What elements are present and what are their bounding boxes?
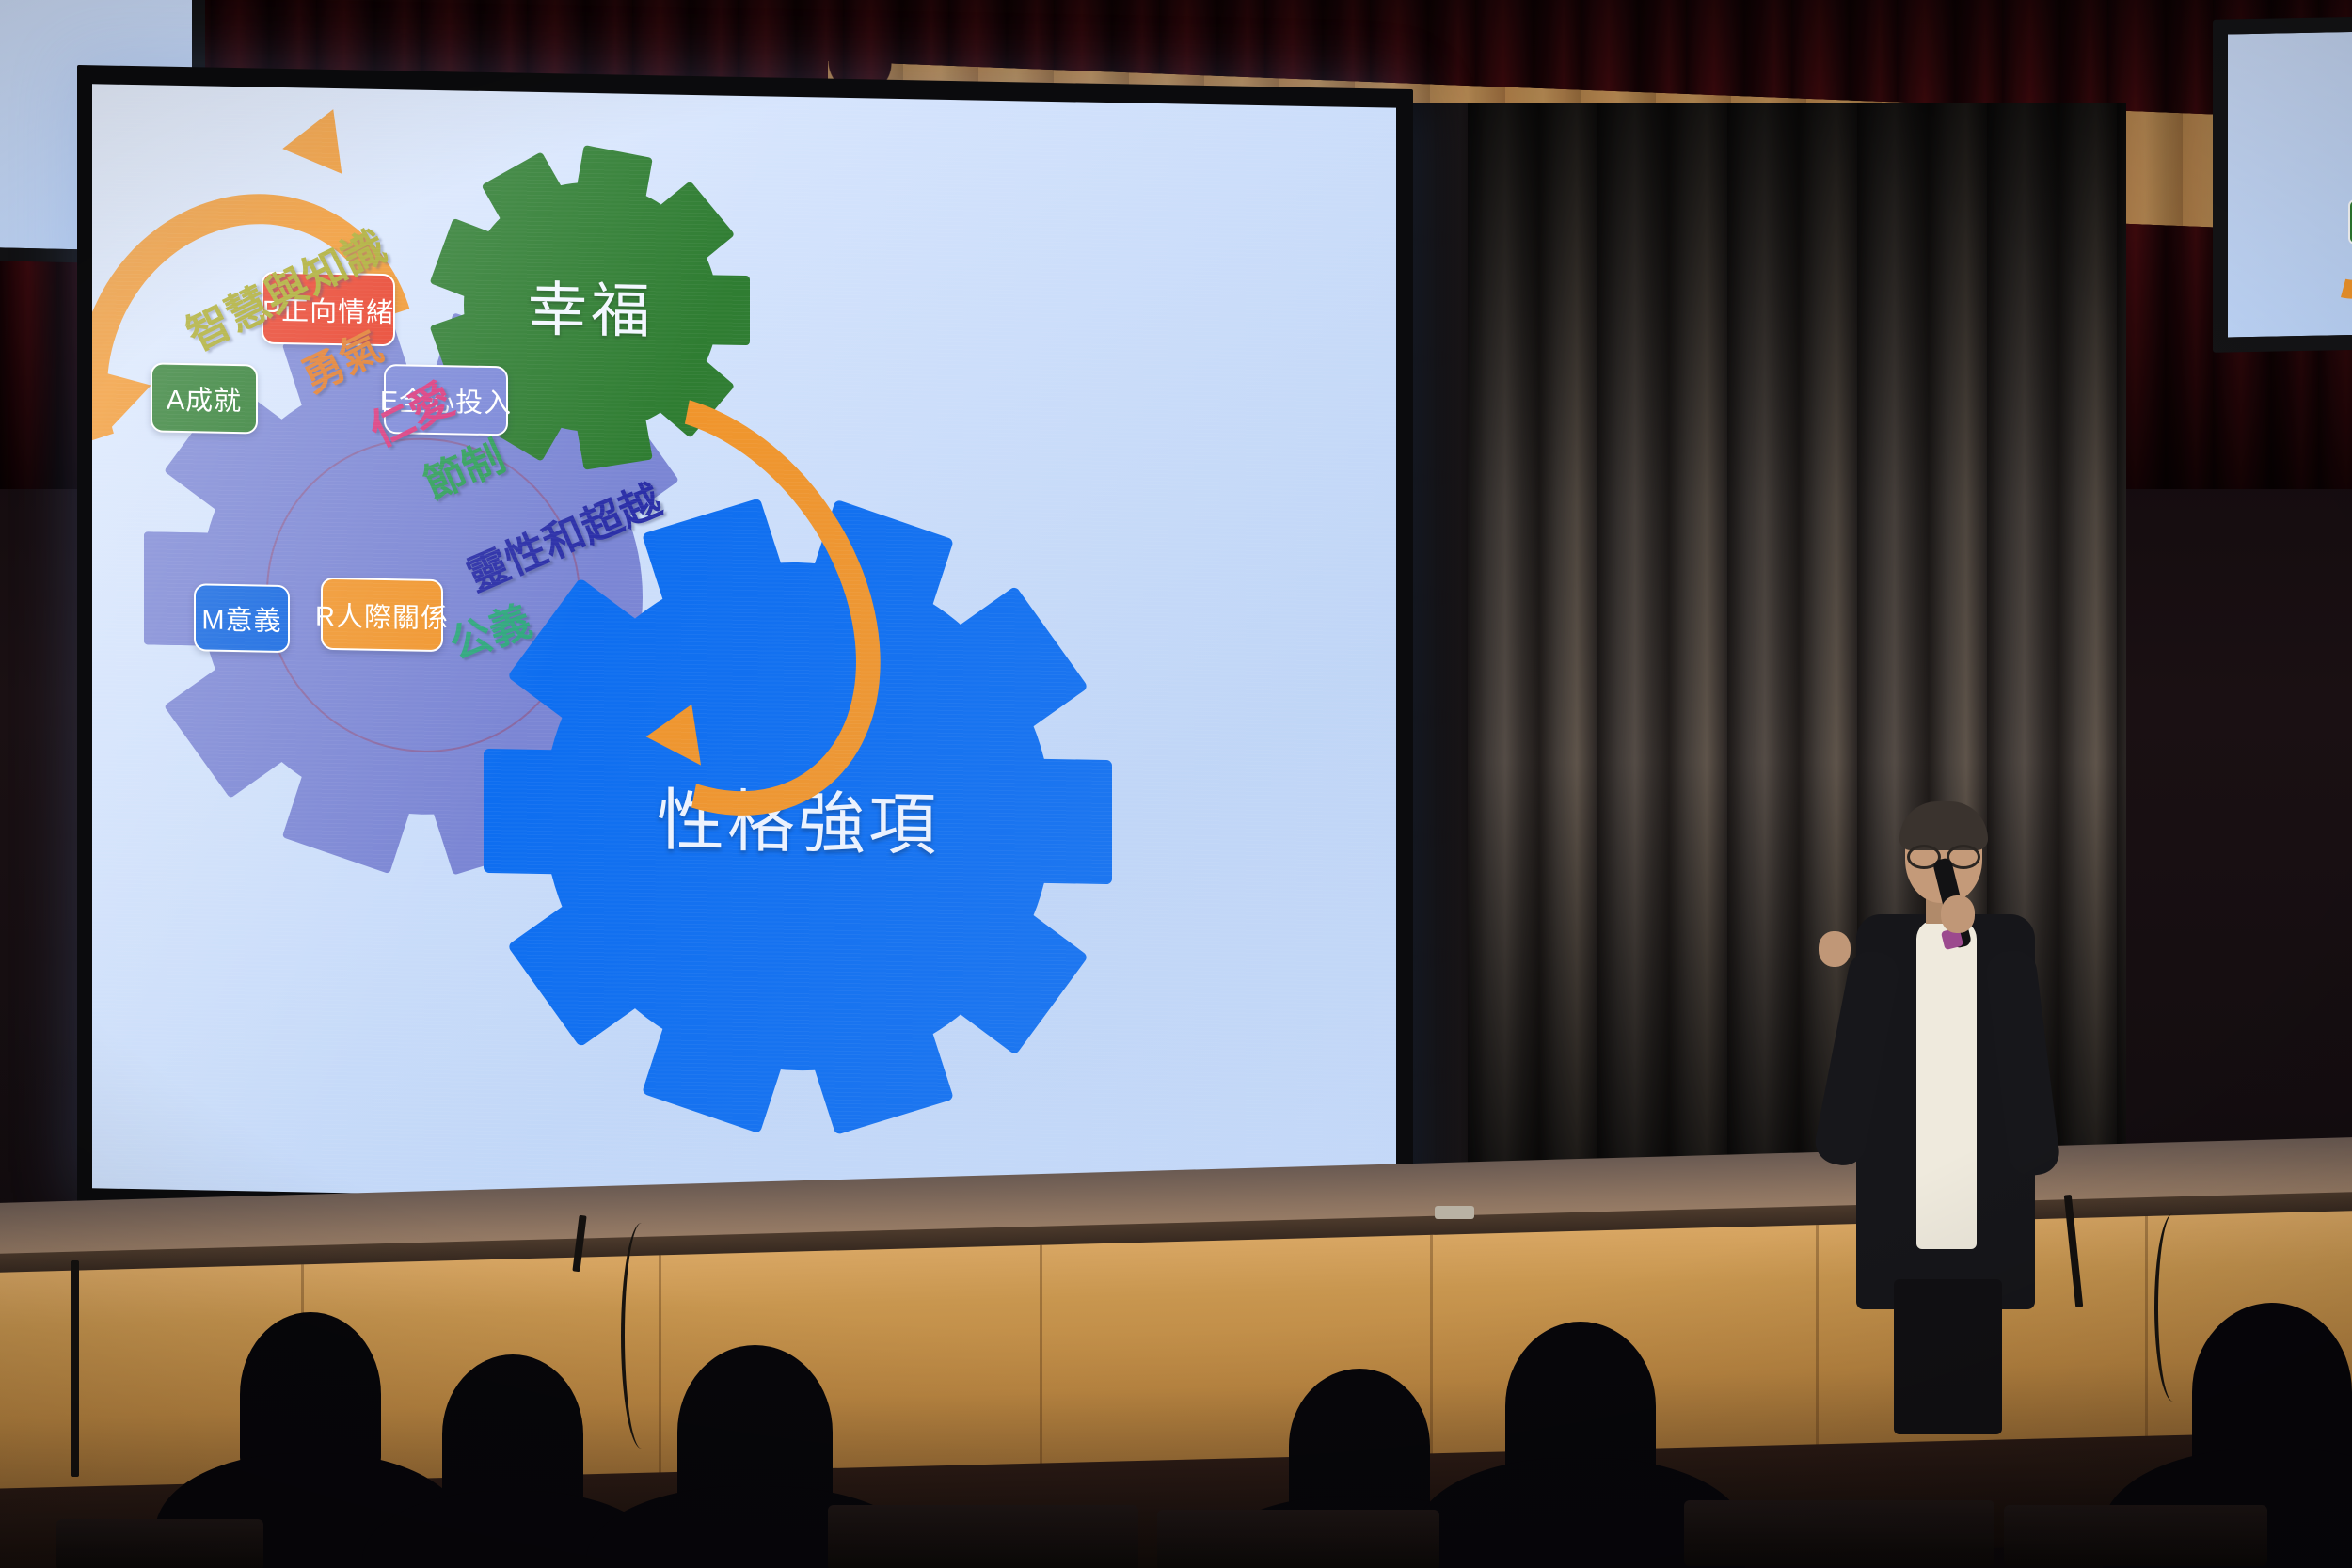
auditorium-seat-back [2004, 1505, 2267, 1566]
right-monitor-box: A成就 [2348, 198, 2352, 245]
stage-cable-left [621, 1223, 662, 1449]
right-monitor-screen: A成就 [2228, 30, 2352, 338]
right-monitor-arrow [2257, 109, 2352, 330]
audience-member [240, 1312, 381, 1477]
auditorium-seat-back [828, 1505, 1138, 1568]
presenter-right-hand [1941, 895, 1975, 933]
presenter-shirt [1916, 920, 1977, 1249]
perma-box-m: M意義 [194, 583, 290, 653]
perma-box-a: A成就 [151, 362, 258, 434]
projection-screen-frame: 幸福 性格強項 P正向情緒 [77, 65, 1413, 1227]
perma-box-r: R人際關係 [321, 578, 443, 652]
left-arrow-head-up [282, 97, 363, 174]
presenter-hair [1899, 801, 1988, 850]
presenter-left-hand [1819, 931, 1851, 967]
lecture-hall-photo: 和超越 A成就 [0, 0, 2352, 1568]
auditorium-seat-back [1157, 1510, 1439, 1568]
projection-screen: 幸福 性格強項 P正向情緒 [92, 84, 1396, 1212]
auditorium-seat-back [56, 1519, 263, 1568]
presentation-slide: 幸福 性格強項 P正向情緒 [92, 84, 1396, 1212]
right-side-monitor: A成就 [2213, 14, 2352, 353]
stage-cable-right [2154, 1213, 2192, 1402]
presenter-trousers [1894, 1279, 2002, 1434]
virtue-word-group: 智慧與知識勇氣仁愛節制靈性和超越公義 [92, 84, 1396, 107]
happiness-gear-label: 幸福 [464, 261, 718, 351]
stage-object [1435, 1206, 1474, 1219]
presenter [1839, 809, 2056, 1430]
auditorium-seat-back [1684, 1500, 1994, 1566]
mic-stand-left [71, 1260, 79, 1477]
